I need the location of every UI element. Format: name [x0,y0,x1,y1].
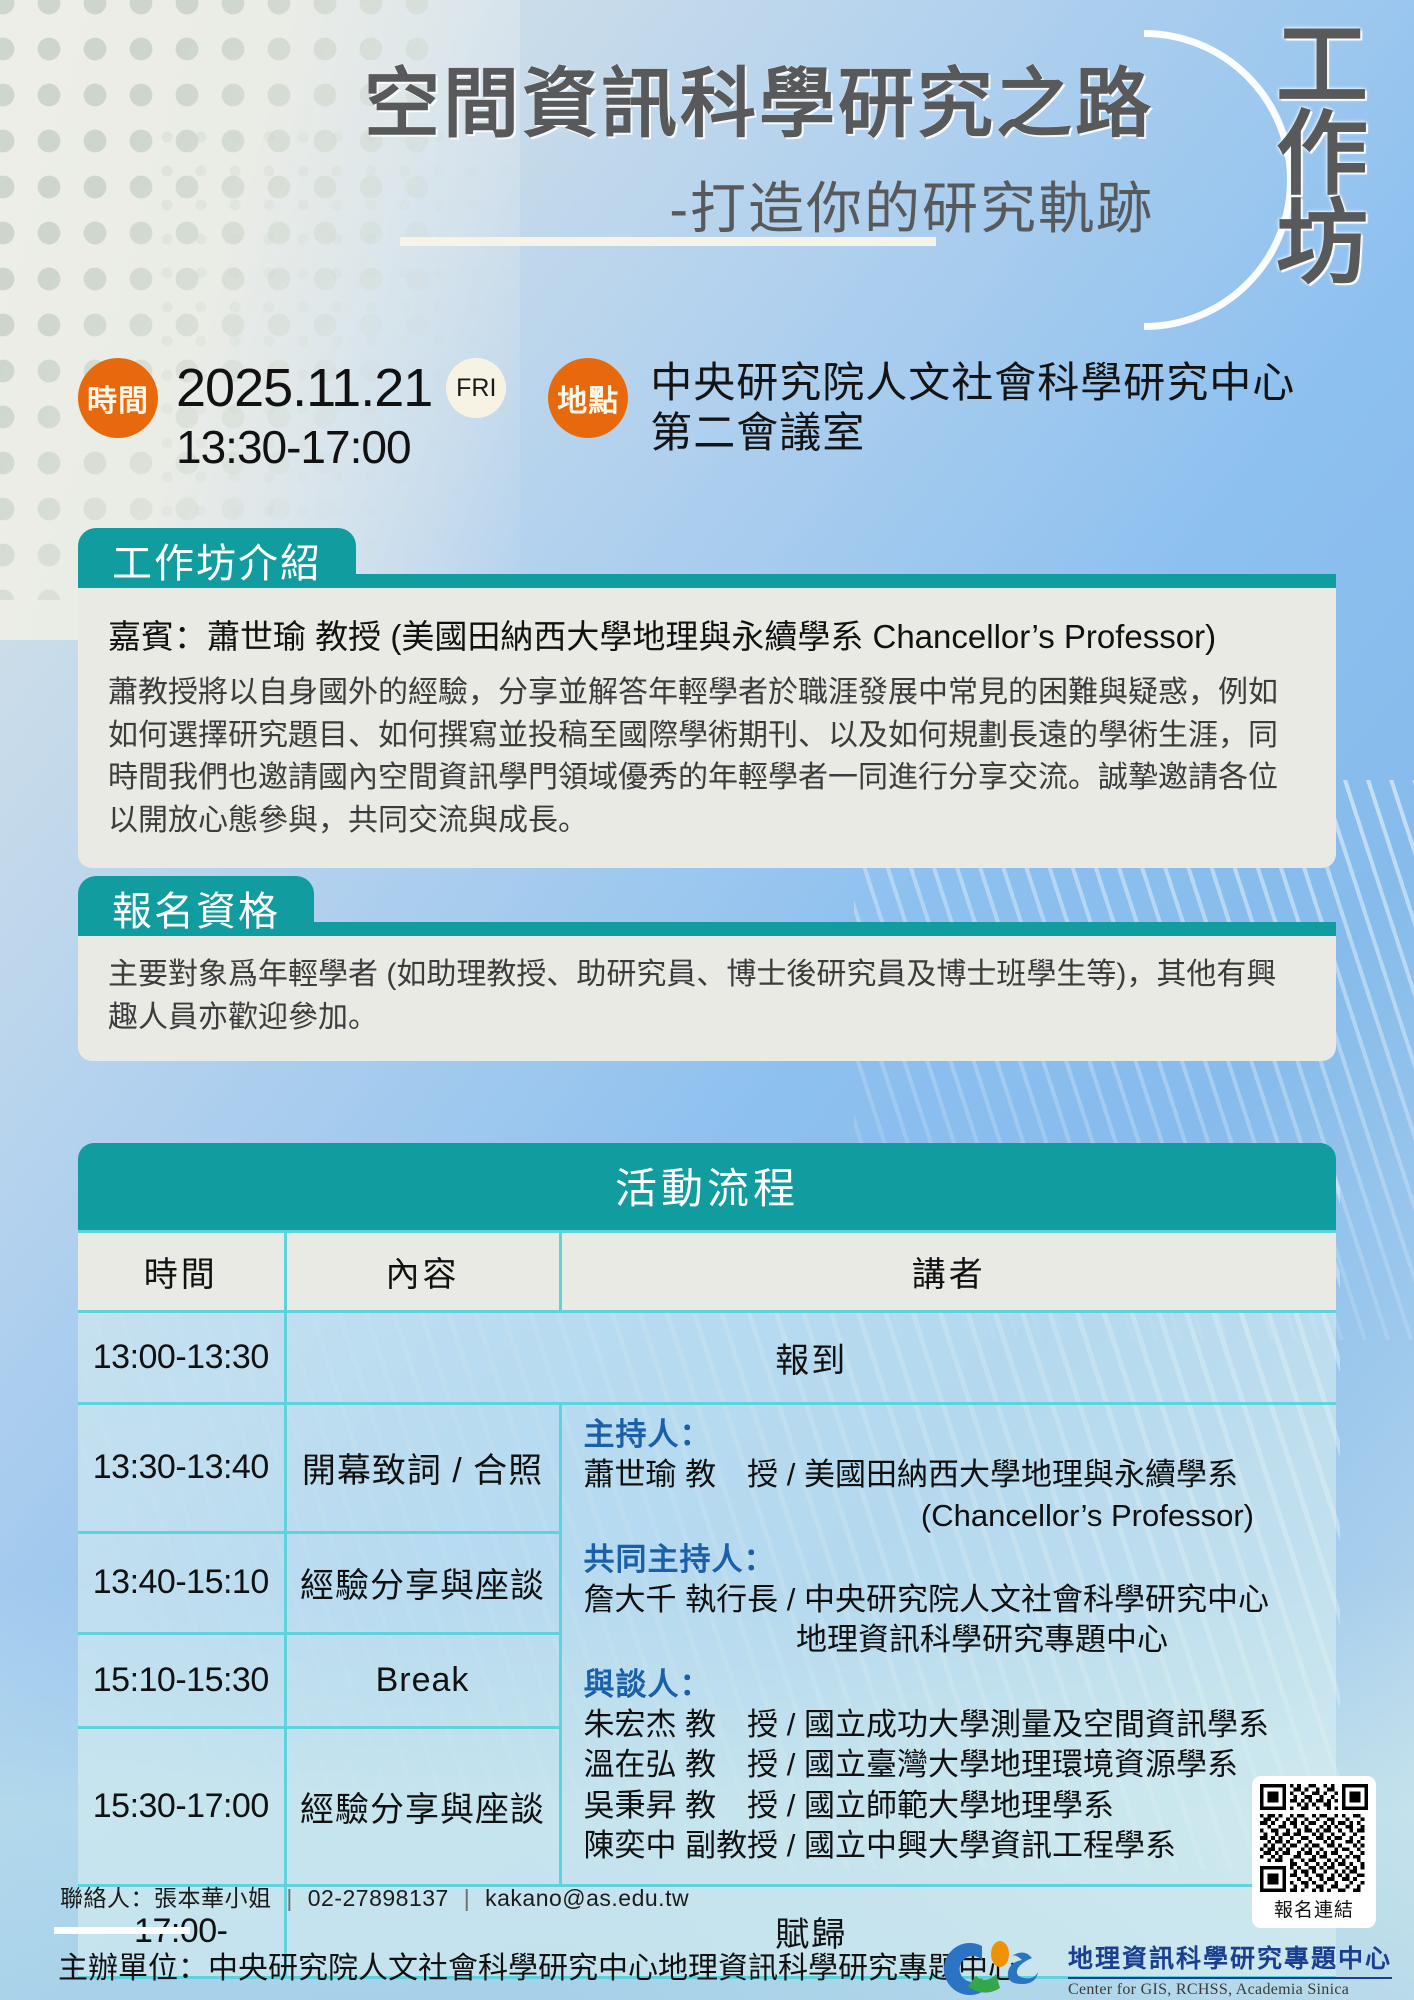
speaker-group-cohost: 共同主持人： 詹大千 執行長 / 中央研究院人文社會科學研究中心 地理資訊科學研… [584,1540,1321,1661]
schedule-heading: 活動流程 [78,1143,1336,1230]
schedule-content-2: 經驗分享與座談 [285,1532,560,1633]
table-row: 13:30-13:40 開幕致詞 / 合照 主持人： 蕭世瑜 教 授 / 美國田… [78,1404,1336,1533]
schedule-time-2: 13:40-15:10 [78,1532,285,1633]
section-intro-tab-row: 工作坊介紹 [78,528,1336,588]
schedule-time-3: 15:10-15:30 [78,1633,285,1727]
section-intro-body: 嘉賓：蕭世瑜 教授 (美國田納西大學地理與永續學系 Chancellor’s P… [78,588,1336,868]
gis-logo-divider [1068,1977,1392,1979]
place-label-badge: 地點 [548,358,628,438]
section-eligibility: 報名資格 主要對象爲年輕學者 (如助理教授、助研究員、博士後研究員及博士班學生等… [78,876,1336,1061]
schedule-time-4: 15:30-17:00 [78,1727,285,1885]
speaker-line: 溫在弘 教 授 / 國立臺灣大學地理環境資源學系 [584,1745,1321,1785]
speaker-role-host: 主持人： [584,1415,1321,1455]
speaker-group-panelists: 與談人： 朱宏杰 教 授 / 國立成功大學測量及空間資訊學系 溫在弘 教 授 /… [584,1665,1321,1866]
speaker-line: 吳秉昇 教 授 / 國立師範大學地理學系 [584,1786,1321,1826]
contact-separator-1: | [278,1885,300,1911]
intro-guest-line: 嘉賓：蕭世瑜 教授 (美國田納西大學地理與永續學系 Chancellor’s P… [108,610,1306,658]
schedule-content-4: 經驗分享與座談 [285,1727,560,1885]
speaker-role-cohost: 共同主持人： [584,1540,1321,1580]
registration-qr-card[interactable]: 報名連結 [1252,1776,1376,1928]
eligibility-paragraph: 主要對象爲年輕學者 (如助理教授、助研究員、博士後研究員及博士班學生等)，其他有… [108,954,1306,1039]
section-workshop-intro: 工作坊介紹 嘉賓：蕭世瑜 教授 (美國田納西大學地理與永續學系 Chancell… [78,528,1336,868]
contact-line: 聯絡人：張本華小姐 | 02-27898137 | kakano@as.edu.… [60,1879,689,1913]
vertical-title-workshop: 工 作 坊 [1268,22,1376,290]
speaker-line: 陳奕中 副教授 / 國立中興大學資訊工程學系 [584,1826,1321,1866]
event-time-range: 13:30-17:00 [176,420,506,474]
vertical-title-char-3: 坊 [1268,200,1376,289]
qr-label: 報名連結 [1260,1892,1368,1924]
speaker-role-panelists: 與談人： [584,1665,1321,1705]
schedule-time-0: 13:00-13:30 [78,1312,285,1404]
section-eligibility-heading: 報名資格 [78,876,314,936]
schedule-speakers-cell: 主持人： 蕭世瑜 教 授 / 美國田納西大學地理與永續學系 (Chancello… [560,1404,1336,1886]
contact-separator-2: | [456,1885,478,1911]
schedule-time-1: 13:30-13:40 [78,1404,285,1533]
title-divider [400,237,936,246]
intro-paragraph: 蕭教授將以自身國外的經驗，分享並解答年輕學者於職涯發展中常見的困難與疑惑，例如如… [108,672,1306,842]
place-line-1: 中央研究院人文社會科學研究中心 [650,358,1295,408]
speaker-group-host: 主持人： 蕭世瑜 教 授 / 美國田納西大學地理與永續學系 (Chancello… [584,1415,1321,1536]
table-row: 13:00-13:30 報到 [78,1312,1336,1404]
contact-person: 聯絡人：張本華小姐 [60,1885,272,1911]
event-info-row: 時間 2025.11.21 FRI 13:30-17:00 地點 中央研究院人文… [78,358,1295,474]
schedule-span-0: 報到 [285,1312,1336,1404]
gis-center-logo: 地理資訊科學研究專題中心 Center for GIS, RCHSS, Acad… [938,1938,1392,2000]
schedule-table: 時間 內容 講者 13:00-13:30 報到 13:30-13:40 開幕致詞… [78,1230,1336,1979]
time-info: 2025.11.21 FRI 13:30-17:00 [176,358,506,474]
section-eligibility-tab-row: 報名資格 [78,876,1336,936]
speaker-line: 朱宏杰 教 授 / 國立成功大學測量及空間資訊學系 [584,1705,1321,1745]
speaker-line: 地理資訊科學研究專題中心 [584,1620,1321,1660]
footer-divider [54,1927,190,1934]
organizer-line: 主辦單位：中央研究院人文社會科學研究中心地理資訊科學研究專題中心 [58,1943,1018,1987]
schedule-content-1: 開幕致詞 / 合照 [285,1404,560,1533]
speaker-line: 蕭世瑜 教 授 / 美國田納西大學地理與永續學系 [584,1455,1321,1495]
schedule-col-header-content: 內容 [285,1232,560,1312]
gis-logo-icon [938,1938,1062,2000]
vertical-title-char-2: 作 [1268,111,1376,200]
schedule-col-header-speaker: 講者 [560,1232,1336,1312]
speaker-line: 詹大千 執行長 / 中央研究院人文社會科學研究中心 [584,1580,1321,1620]
gis-logo-text: 地理資訊科學研究專題中心 Center for GIS, RCHSS, Acad… [1068,1939,1392,1999]
vertical-title-char-1: 工 [1268,22,1376,111]
date-line: 2025.11.21 FRI [176,358,506,418]
section-intro-heading: 工作坊介紹 [78,528,356,588]
page-subtitle: -打造你的研究軌跡 [0,164,1180,245]
gis-logo-english: Center for GIS, RCHSS, Academia Sinica [1068,1981,1392,1999]
qr-code-image[interactable] [1260,1784,1368,1892]
contact-email[interactable]: kakano@as.edu.tw [485,1885,689,1911]
page-title: 空間資訊科學研究之路 [0,42,1180,152]
place-info: 中央研究院人文社會科學研究中心 第二會議室 [650,358,1295,457]
schedule-header-row: 時間 內容 講者 [78,1232,1336,1312]
gis-logo-chinese: 地理資訊科學研究專題中心 [1068,1939,1392,1975]
time-label-badge: 時間 [78,358,158,438]
event-date: 2025.11.21 [176,361,432,415]
schedule-col-header-time: 時間 [78,1232,285,1312]
place-line-2: 第二會議室 [650,408,1295,458]
weekday-badge: FRI [446,358,506,418]
schedule-content-3: Break [285,1633,560,1727]
title-block: 空間資訊科學研究之路 -打造你的研究軌跡 [0,42,1180,245]
schedule-block: 活動流程 時間 內容 講者 13:00-13:30 報到 13:30-13:40… [78,1143,1336,1979]
poster-root: 空間資訊科學研究之路 -打造你的研究軌跡 工 作 坊 時間 2025.11.21… [0,0,1414,2000]
speaker-line: (Chancellor’s Professor) [584,1496,1321,1536]
contact-phone: 02-27898137 [308,1885,449,1911]
section-eligibility-body: 主要對象爲年輕學者 (如助理教授、助研究員、博士後研究員及博士班學生等)，其他有… [78,936,1336,1061]
gis-logo-mark [938,1938,1062,2000]
